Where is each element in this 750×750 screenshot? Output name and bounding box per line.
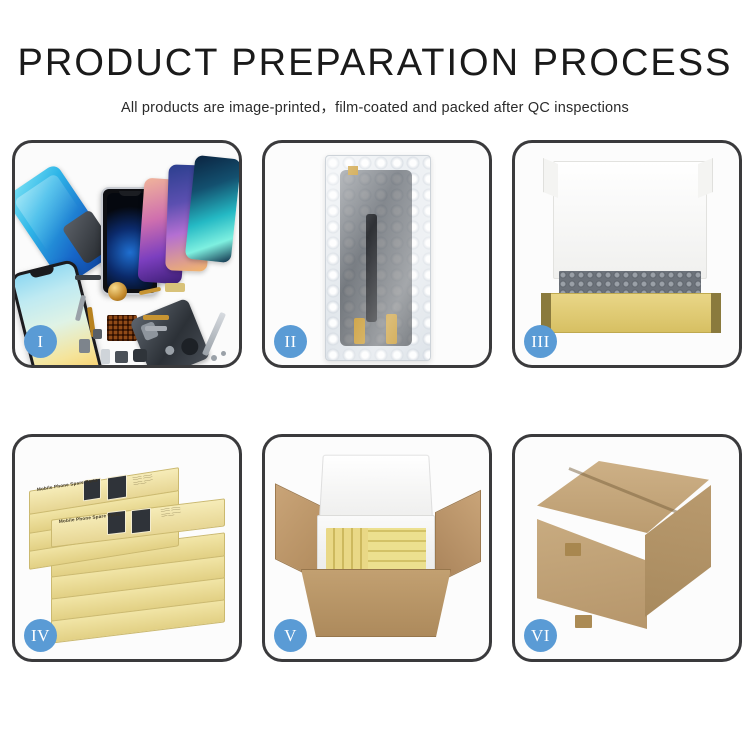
process-grid: I II: [12, 140, 742, 680]
step-panel-2[interactable]: II: [262, 140, 492, 368]
flex-cable-icon: [143, 315, 169, 320]
step-badge-1: I: [24, 325, 57, 358]
kraft-box-base-icon: [541, 293, 721, 333]
carton-tape-icon: [565, 543, 581, 556]
step-panel-5[interactable]: V: [262, 434, 492, 662]
step-panel-6[interactable]: VI: [512, 434, 742, 662]
page-subtitle: All products are image-printed，film-coat…: [0, 96, 750, 117]
foam-lid-icon: [319, 455, 433, 518]
box-flap-right-icon: [698, 158, 713, 198]
screw-icon: [221, 351, 226, 356]
step-badge-5: V: [274, 619, 307, 652]
step-badge-3: III: [524, 325, 557, 358]
bubble-wrap-bag-icon: [325, 155, 431, 361]
carton-tape-icon: [575, 615, 592, 628]
connector-icon: [165, 283, 185, 292]
component-icon: [79, 339, 90, 353]
step-badge-2: II: [274, 325, 307, 358]
plastic-shine-overlay: [326, 156, 430, 360]
step-badge-4: IV: [24, 619, 57, 652]
page-root: PRODUCT PREPARATION PROCESS All products…: [0, 0, 750, 750]
header: PRODUCT PREPARATION PROCESS All products…: [0, 0, 750, 117]
component-icon: [93, 329, 102, 339]
box-flap-left-icon: [543, 158, 558, 198]
screw-icon: [211, 355, 217, 361]
tweezer-icon: [202, 312, 226, 356]
box-artwork-screen: [131, 508, 151, 534]
box-stack-icon: Mobile Phone Spare Parts ——— ——— ——— ———…: [21, 457, 233, 647]
carton-flap-left-icon: [275, 483, 323, 582]
camera-module-icon: [133, 349, 147, 362]
step-badge-6: VI: [524, 619, 557, 652]
page-title: PRODUCT PREPARATION PROCESS: [0, 44, 750, 82]
carton-body-icon: [301, 569, 451, 637]
step-panel-3[interactable]: III: [512, 140, 742, 368]
carton-left-face: [537, 519, 647, 629]
box-lid-icon: [553, 161, 707, 279]
box-artwork-screen: [107, 474, 127, 500]
component-icon: [115, 351, 128, 363]
step-panel-4[interactable]: Mobile Phone Spare Parts ——— ——— ——— ———…: [12, 434, 242, 662]
packed-yellow-boxes-icon: [368, 528, 426, 570]
component-icon: [101, 349, 110, 364]
phone-teal-icon: [185, 155, 239, 263]
speaker-icon: [75, 275, 101, 280]
step-panel-1[interactable]: I: [12, 140, 242, 368]
flex-cable-icon: [145, 326, 167, 331]
copper-coil-icon: [108, 282, 127, 301]
